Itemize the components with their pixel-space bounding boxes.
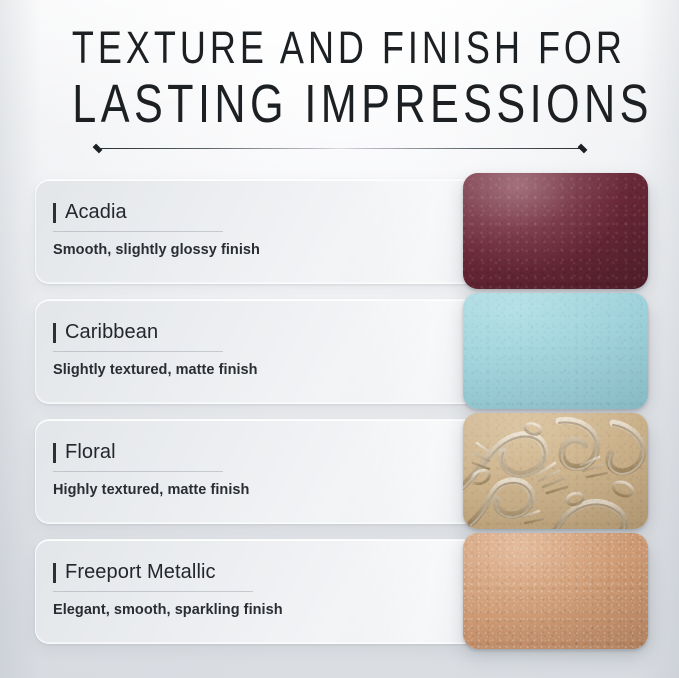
- row-title-wrap: Freeport Metallic: [53, 561, 253, 592]
- row-title-wrap: Floral: [53, 441, 223, 472]
- row-description: Slightly textured, matte finish: [53, 361, 353, 379]
- freeport-metallic-swatch[interactable]: [463, 533, 648, 649]
- swatch-row: Caribbean Slightly textured, matte finis…: [0, 291, 679, 411]
- heading-line-1: TEXTURE AND FINISH FOR: [68, 22, 611, 74]
- row-title-wrap: Caribbean: [53, 321, 223, 352]
- diamond-icon-right: [577, 143, 587, 153]
- row-info: Floral Highly textured, matte finish: [53, 441, 353, 499]
- poster-canvas: TEXTURE AND FINISH FOR LASTING IMPRESSIO…: [0, 0, 679, 678]
- ornamental-divider: [93, 142, 587, 154]
- accent-bar-icon: [53, 323, 56, 343]
- row-info: Caribbean Slightly textured, matte finis…: [53, 321, 353, 379]
- matte-shading: [463, 413, 648, 529]
- row-info: Acadia Smooth, slightly glossy finish: [53, 201, 353, 259]
- row-title: Floral: [65, 441, 116, 464]
- poster-heading: TEXTURE AND FINISH FOR LASTING IMPRESSIO…: [0, 0, 679, 134]
- row-title: Caribbean: [65, 321, 158, 344]
- acadia-swatch[interactable]: [463, 173, 648, 289]
- accent-bar-icon: [53, 203, 56, 223]
- swatch-row: Freeport Metallic Elegant, smooth, spark…: [0, 531, 679, 651]
- swatch-row-list: Acadia Smooth, slightly glossy finish Ca…: [0, 171, 679, 651]
- heading-line-2: LASTING IMPRESSIONS: [68, 74, 611, 134]
- row-description: Smooth, slightly glossy finish: [53, 241, 353, 259]
- divider-rule: [99, 148, 581, 149]
- row-title: Freeport Metallic: [65, 561, 216, 584]
- row-title-wrap: Acadia: [53, 201, 223, 232]
- gloss-highlight: [463, 173, 648, 289]
- row-description: Elegant, smooth, sparkling finish: [53, 601, 353, 619]
- swatch-row: Floral Highly textured, matte finish: [0, 411, 679, 531]
- matte-shading: [463, 293, 648, 409]
- caribbean-swatch[interactable]: [463, 293, 648, 409]
- row-info: Freeport Metallic Elegant, smooth, spark…: [53, 561, 353, 619]
- gloss-highlight: [463, 533, 648, 649]
- swatch-row: Acadia Smooth, slightly glossy finish: [0, 171, 679, 291]
- accent-bar-icon: [53, 563, 56, 583]
- floral-swatch[interactable]: [463, 413, 648, 529]
- row-title: Acadia: [65, 201, 127, 224]
- accent-bar-icon: [53, 443, 56, 463]
- row-description: Highly textured, matte finish: [53, 481, 353, 499]
